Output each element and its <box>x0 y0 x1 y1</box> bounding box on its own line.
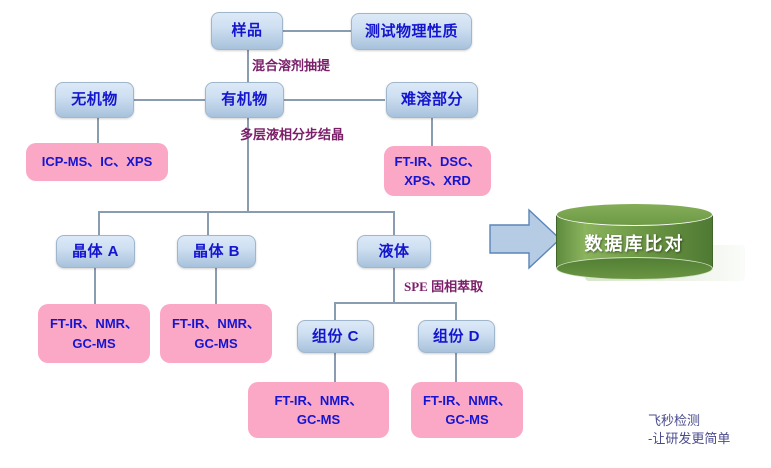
database-cylinder[interactable]: 数据库比对 <box>556 203 713 279</box>
flowchart-canvas: 样品 测试物理性质 无机物 有机物 难溶部分 晶体 A 晶体 B 液体 组份 C… <box>0 0 771 468</box>
connector-inorganic-to-methods <box>97 116 99 144</box>
connector-split-bar <box>98 211 394 213</box>
node-crystal-b-label: 晶体 B <box>193 243 240 260</box>
connector-spe-to-component-c <box>334 302 336 320</box>
leaf-crystal-b-methods[interactable]: FT-IR、NMR、 GC-MS <box>160 304 272 363</box>
watermark-line1: 飞秒检测 <box>648 412 730 430</box>
connector-organic-to-insoluble <box>281 99 385 101</box>
connector-component-c-to-methods <box>334 350 336 383</box>
connector-liquid-to-spe-split <box>393 265 395 303</box>
node-component-c-label: 组份 C <box>312 328 359 345</box>
connector-insoluble-to-methods <box>431 116 433 146</box>
node-physical-test[interactable]: 测试物理性质 <box>351 13 472 50</box>
connector-split-to-liquid <box>393 211 395 237</box>
connector-inorganic-to-organic <box>132 99 214 101</box>
annotation-extraction: 混合溶剂抽提 <box>252 55 330 74</box>
leaf-inorganic-methods[interactable]: ICP-MS、IC、XPS <box>26 143 168 181</box>
leaf-component-c-methods[interactable]: FT-IR、NMR、 GC-MS <box>248 382 389 438</box>
leaf-inorganic-methods-label: ICP-MS、IC、XPS <box>42 152 153 172</box>
arrow-to-database-icon <box>489 208 561 270</box>
leaf-component-c-methods-line2: GC-MS <box>297 410 340 430</box>
database-label: 数据库比对 <box>556 225 713 261</box>
leaf-component-d-methods-line1: FT-IR、NMR、 <box>423 391 511 411</box>
connector-component-d-to-methods <box>455 350 457 383</box>
leaf-insoluble-methods-line2: XPS、XRD <box>404 171 470 191</box>
connector-split-to-crystal-a <box>98 211 100 237</box>
node-liquid[interactable]: 液体 <box>357 235 431 268</box>
annotation-spe: SPE 固相萃取 <box>404 276 483 295</box>
node-inorganic[interactable]: 无机物 <box>55 82 134 118</box>
leaf-crystal-a-methods[interactable]: FT-IR、NMR、 GC-MS <box>38 304 150 363</box>
watermark-line2: -让研发更简单 <box>648 430 730 448</box>
connector-split-to-crystal-b <box>207 211 209 237</box>
leaf-crystal-b-methods-line1: FT-IR、NMR、 <box>172 314 260 334</box>
connector-crystal-a-to-methods <box>94 265 96 304</box>
node-sample-label: 样品 <box>231 22 262 39</box>
cylinder-top-ellipse <box>556 203 713 226</box>
node-physical-test-label: 测试物理性质 <box>365 23 458 40</box>
connector-spe-split-bar <box>334 302 456 304</box>
leaf-crystal-a-methods-line2: GC-MS <box>72 334 115 354</box>
leaf-component-d-methods-line2: GC-MS <box>445 410 488 430</box>
node-organic[interactable]: 有机物 <box>205 82 284 118</box>
annotation-crystallization: 多层液相分步结晶 <box>240 124 344 143</box>
watermark: 飞秒检测 -让研发更简单 <box>648 412 730 447</box>
connector-sample-to-physical-test <box>281 30 351 32</box>
leaf-component-d-methods[interactable]: FT-IR、NMR、 GC-MS <box>411 382 523 438</box>
node-crystal-a-label: 晶体 A <box>72 243 119 260</box>
node-insoluble-label: 难溶部分 <box>401 91 463 108</box>
node-component-c[interactable]: 组份 C <box>297 320 374 353</box>
node-component-d-label: 组份 D <box>433 328 480 345</box>
leaf-insoluble-methods[interactable]: FT-IR、DSC、 XPS、XRD <box>384 146 491 196</box>
node-sample[interactable]: 样品 <box>211 12 283 50</box>
node-inorganic-label: 无机物 <box>71 91 118 108</box>
leaf-crystal-a-methods-line1: FT-IR、NMR、 <box>50 314 138 334</box>
connector-crystal-b-to-methods <box>215 265 217 304</box>
node-crystal-a[interactable]: 晶体 A <box>56 235 135 268</box>
node-crystal-b[interactable]: 晶体 B <box>177 235 256 268</box>
leaf-crystal-b-methods-line2: GC-MS <box>194 334 237 354</box>
leaf-insoluble-methods-line1: FT-IR、DSC、 <box>395 152 481 172</box>
leaf-component-c-methods-line1: FT-IR、NMR、 <box>274 391 362 411</box>
connector-spe-to-component-d <box>455 302 457 320</box>
node-liquid-label: 液体 <box>378 243 409 260</box>
node-component-d[interactable]: 组份 D <box>418 320 495 353</box>
node-insoluble[interactable]: 难溶部分 <box>386 82 478 118</box>
node-organic-label: 有机物 <box>221 91 268 108</box>
